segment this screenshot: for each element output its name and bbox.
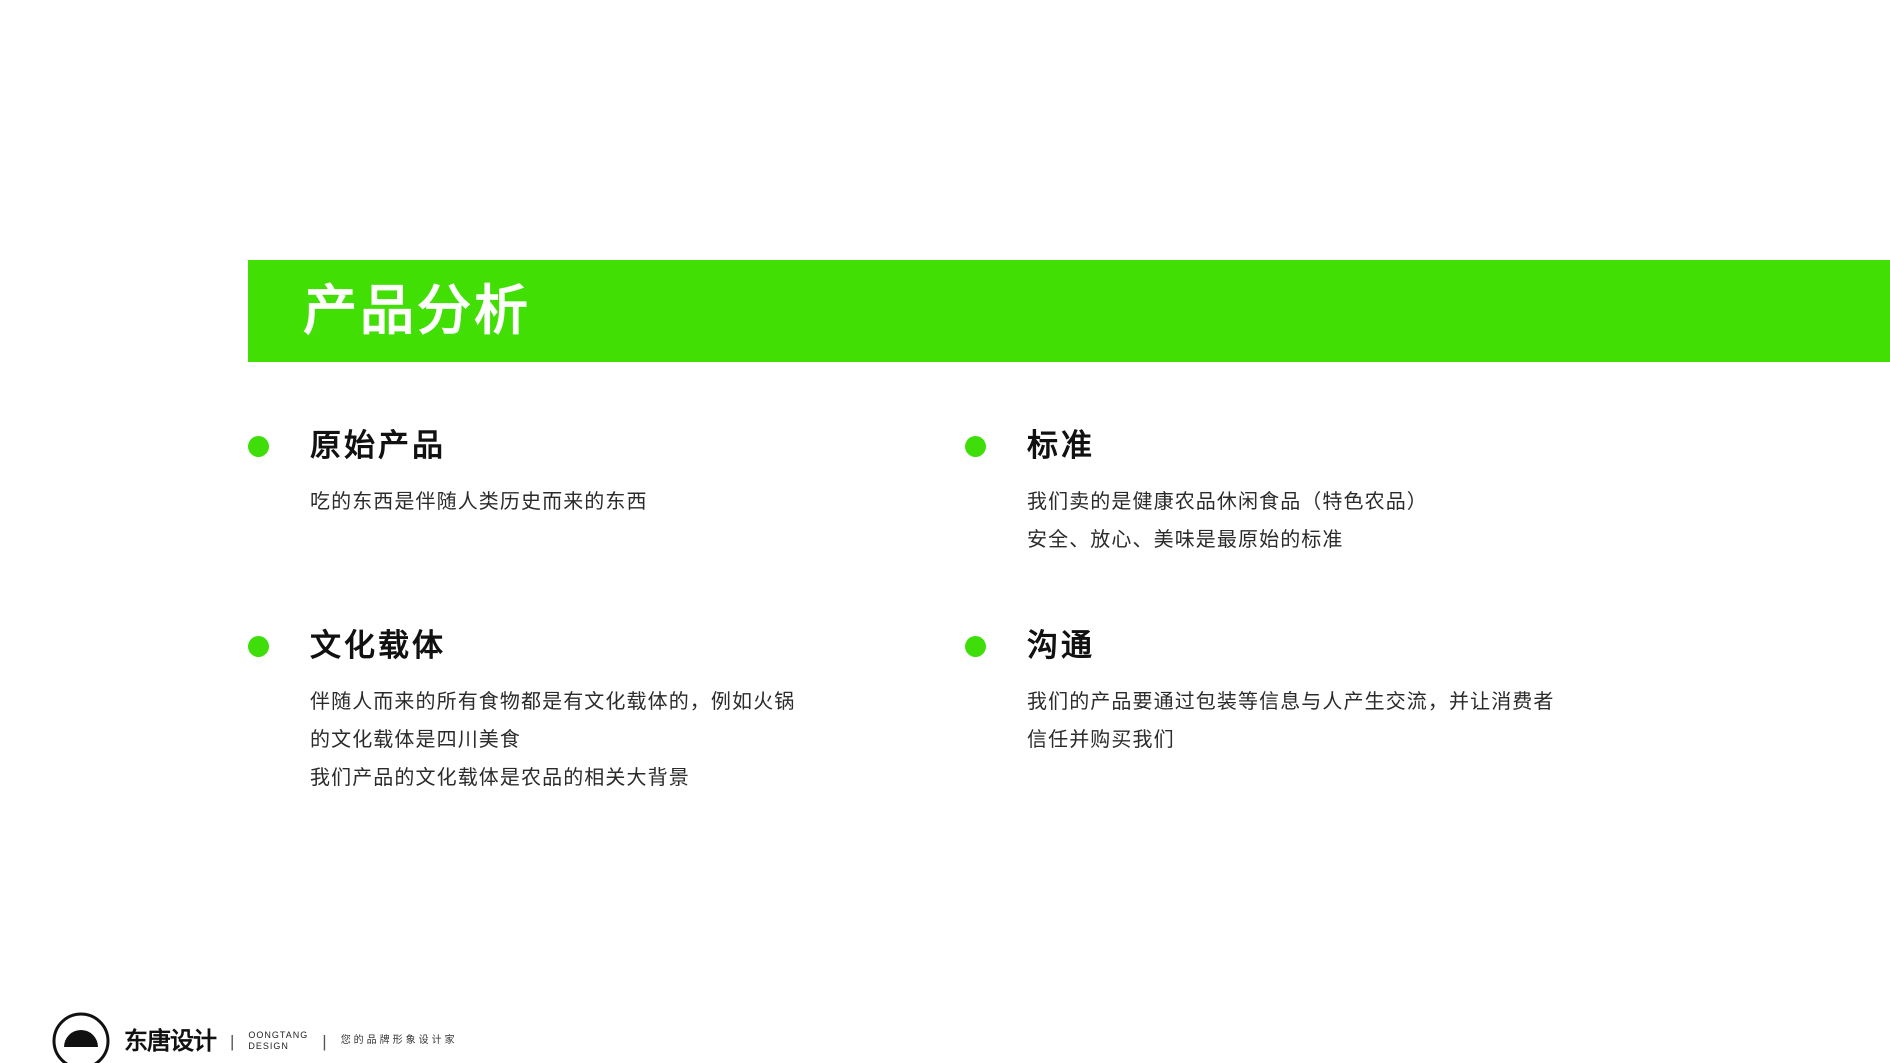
- block-header: 标准: [965, 425, 1682, 467]
- bullet-dot-icon: [965, 636, 986, 657]
- brand-tagline: 您的品牌形象设计家: [341, 1036, 458, 1046]
- content-grid: 原始产品 吃的东西是伴随人类历史而来的东西 标准 我们卖的是健康农品休闲食品（特…: [248, 425, 1848, 797]
- footer-branding: 东唐设计 | OONGTANG DESIGN | 您的品牌形象设计家: [50, 1003, 458, 1063]
- block-heading: 沟通: [986, 629, 1095, 663]
- brand-en-line-2: DESIGN: [248, 1041, 289, 1051]
- content-block-communication: 沟通 我们的产品要通过包装等信息与人产生交流，并让消费者 信任并购买我们: [965, 625, 1682, 797]
- body-line: 安全、放心、美味是最原始的标准: [1027, 521, 1682, 559]
- block-header: 原始产品: [248, 425, 965, 467]
- brand-en-line-1: OONGTANG: [248, 1030, 308, 1040]
- block-body: 吃的东西是伴随人类历史而来的东西: [248, 467, 965, 521]
- body-line: 我们卖的是健康农品休闲食品（特色农品）: [1027, 483, 1682, 521]
- block-body: 我们卖的是健康农品休闲食品（特色农品） 安全、放心、美味是最原始的标准: [965, 467, 1682, 559]
- body-line: 信任并购买我们: [1027, 721, 1682, 759]
- body-line: 我们的产品要通过包装等信息与人产生交流，并让消费者: [1027, 683, 1682, 721]
- body-line: 伴随人而来的所有食物都是有文化载体的，例如火锅: [310, 683, 965, 721]
- bullet-dot-icon: [248, 636, 269, 657]
- company-logo-icon: [50, 1001, 112, 1063]
- footer-divider-2: |: [322, 1033, 326, 1050]
- block-body: 我们的产品要通过包装等信息与人产生交流，并让消费者 信任并购买我们: [965, 667, 1682, 759]
- footer-text-group: 东唐设计 | OONGTANG DESIGN | 您的品牌形象设计家: [124, 1029, 458, 1063]
- bullet-dot-icon: [248, 436, 269, 457]
- block-heading: 标准: [986, 429, 1095, 463]
- block-header: 沟通: [965, 625, 1682, 667]
- block-heading: 文化载体: [269, 629, 446, 663]
- block-header: 文化载体: [248, 625, 965, 667]
- footer-divider-1: |: [230, 1033, 234, 1050]
- content-block-standard: 标准 我们卖的是健康农品休闲食品（特色农品） 安全、放心、美味是最原始的标准: [965, 425, 1682, 559]
- body-line: 的文化载体是四川美食: [310, 721, 965, 759]
- title-banner: 产品分析: [248, 260, 1890, 362]
- content-block-cultural-carrier: 文化载体 伴随人而来的所有食物都是有文化载体的，例如火锅 的文化载体是四川美食 …: [248, 625, 965, 797]
- bullet-dot-icon: [965, 436, 986, 457]
- body-line: 吃的东西是伴随人类历史而来的东西: [310, 483, 965, 521]
- body-line: 我们产品的文化载体是农品的相关大背景: [310, 759, 965, 797]
- content-block-original-product: 原始产品 吃的东西是伴随人类历史而来的东西: [248, 425, 965, 559]
- block-body: 伴随人而来的所有食物都是有文化载体的，例如火锅 的文化载体是四川美食 我们产品的…: [248, 667, 965, 797]
- block-heading: 原始产品: [269, 429, 446, 463]
- brand-name-en: OONGTANG DESIGN: [248, 1030, 308, 1052]
- slide-canvas: 产品分析 原始产品 吃的东西是伴随人类历史而来的东西 标准 我们卖的是健康农品休…: [0, 0, 1890, 1063]
- brand-name-cn: 东唐设计: [124, 1029, 216, 1053]
- page-title: 产品分析: [248, 284, 531, 338]
